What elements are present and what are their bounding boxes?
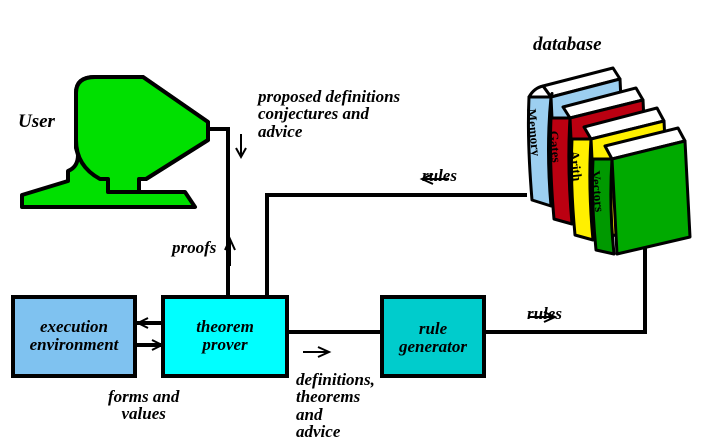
- edge-rulegen-to-database: [484, 243, 645, 332]
- book-spine-label-gates: Gates: [545, 130, 564, 163]
- arrow-left-forms: [138, 318, 163, 328]
- edge-label-definitions: definitions, theorems and advice: [296, 371, 375, 440]
- edge-label-forms-and-values: forms and values: [108, 388, 179, 423]
- edge-label-rules-in: rules: [422, 167, 457, 184]
- edge-label-rules-out: rules: [527, 305, 562, 322]
- book-vectors: [592, 128, 690, 254]
- arrow-right-values: [138, 340, 162, 350]
- diagram-canvas: User database proposed definitions conje…: [0, 0, 711, 445]
- box-label-rule-generator: rule generator: [382, 320, 484, 356]
- book-vectors-cover: [612, 141, 690, 254]
- arrow-right-definitions: [303, 347, 329, 357]
- edge-prover-to-database: [267, 195, 527, 297]
- arrow-down-proposed: [236, 134, 246, 157]
- box-label-execution-environment: execution environment: [13, 318, 135, 354]
- user-shape: [22, 77, 208, 207]
- edge-user-to-prover: [209, 129, 228, 297]
- edge-label-proposed-definitions: proposed definitions conjectures and adv…: [258, 88, 400, 140]
- book-spine-label-arith: Arith: [566, 150, 585, 182]
- user-label: User: [18, 112, 55, 131]
- database-label: database: [533, 35, 602, 54]
- box-label-theorem-prover: theorem prover: [163, 318, 287, 354]
- edge-label-proofs: proofs: [172, 239, 216, 256]
